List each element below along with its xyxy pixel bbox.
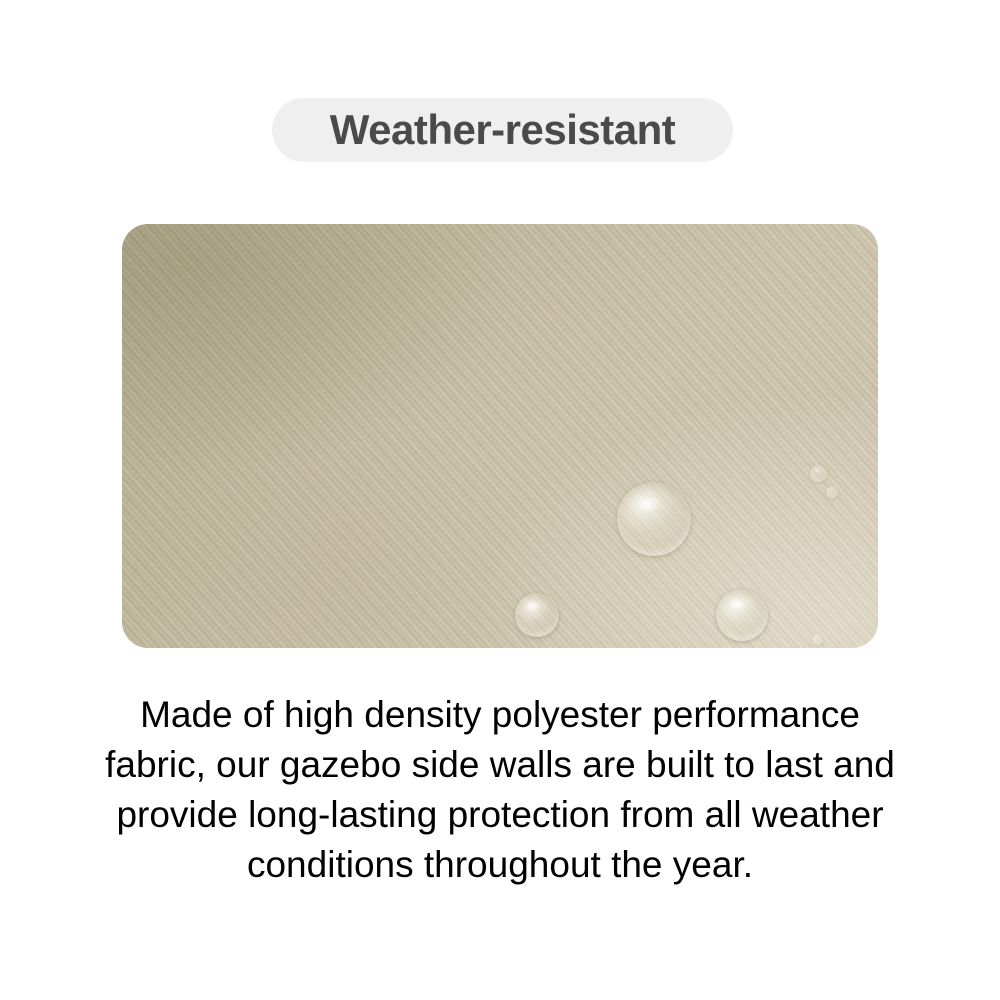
droplet-medium-right [716,589,768,641]
description-line-4: conditions throughout the year. [90,840,910,890]
product-feature-card: Weather-resistant Made of high density p… [0,0,1000,1000]
fabric-photo [122,224,878,648]
page-title: Weather-resistant [330,109,676,151]
description-line-1: Made of high density polyester performan… [90,690,910,740]
description-line-3: provide long-lasting protection from all… [90,790,910,840]
droplet-small-top-right-2 [826,486,838,498]
feature-title-badge: Weather-resistant [272,98,733,162]
fabric-lighting-overlay [122,224,878,648]
droplet-large-top-center [617,482,691,556]
feature-description: Made of high density polyester performan… [90,690,910,890]
droplet-small-top-right [810,465,827,482]
droplet-medium-left [515,593,559,637]
description-line-2: fabric, our gazebo side walls are built … [90,740,910,790]
droplet-tiny-right-mid [812,634,823,645]
